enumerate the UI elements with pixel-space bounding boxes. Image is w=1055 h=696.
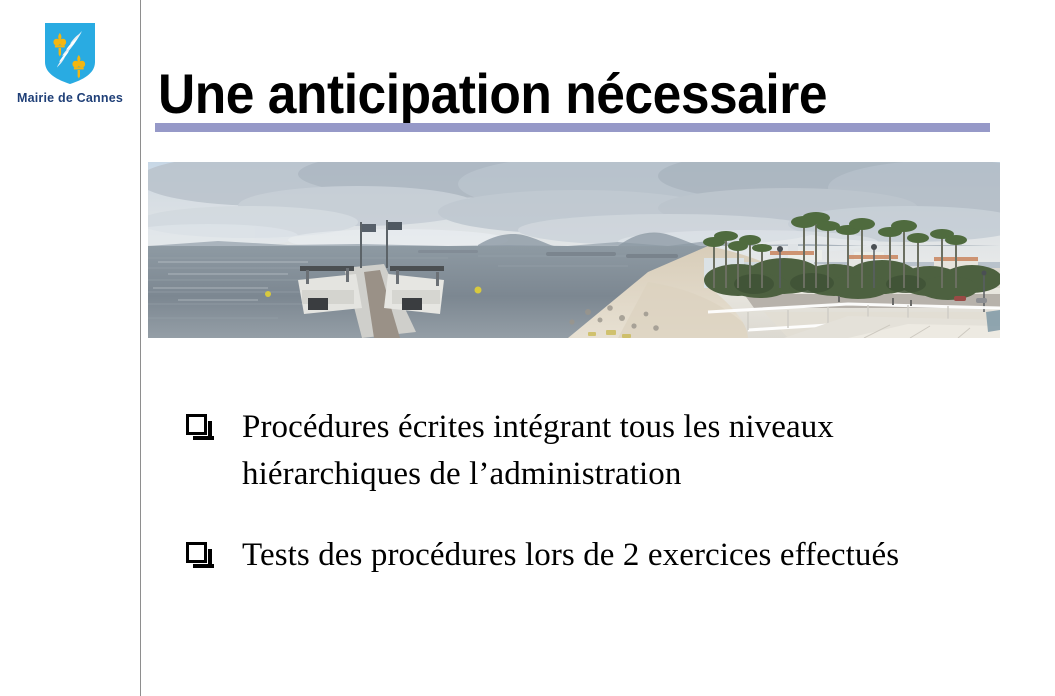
organization-logo: Mairie de Cannes [0, 22, 140, 105]
bullet-list: Procédures écrites intégrant tous les ni… [186, 404, 1016, 613]
square-bullet-icon [186, 404, 242, 435]
bullet-text: Tests des procédures lors de 2 exercices… [242, 532, 1016, 579]
cannes-coat-of-arms-icon [44, 22, 96, 85]
title-accent-rule [155, 123, 990, 132]
vertical-divider [140, 0, 141, 696]
page-title: Une anticipation nécessaire [158, 62, 931, 126]
list-item: Tests des procédures lors de 2 exercices… [186, 532, 1016, 579]
logo-rail: Mairie de Cannes [0, 0, 140, 696]
square-bullet-icon [186, 532, 242, 563]
presentation-slide: Mairie de Cannes Une anticipation nécess… [0, 0, 1055, 696]
list-item: Procédures écrites intégrant tous les ni… [186, 404, 1016, 498]
cannes-seafront-photo [148, 162, 1000, 338]
logo-caption: Mairie de Cannes [0, 91, 140, 105]
bullet-text: Procédures écrites intégrant tous les ni… [242, 404, 1016, 498]
